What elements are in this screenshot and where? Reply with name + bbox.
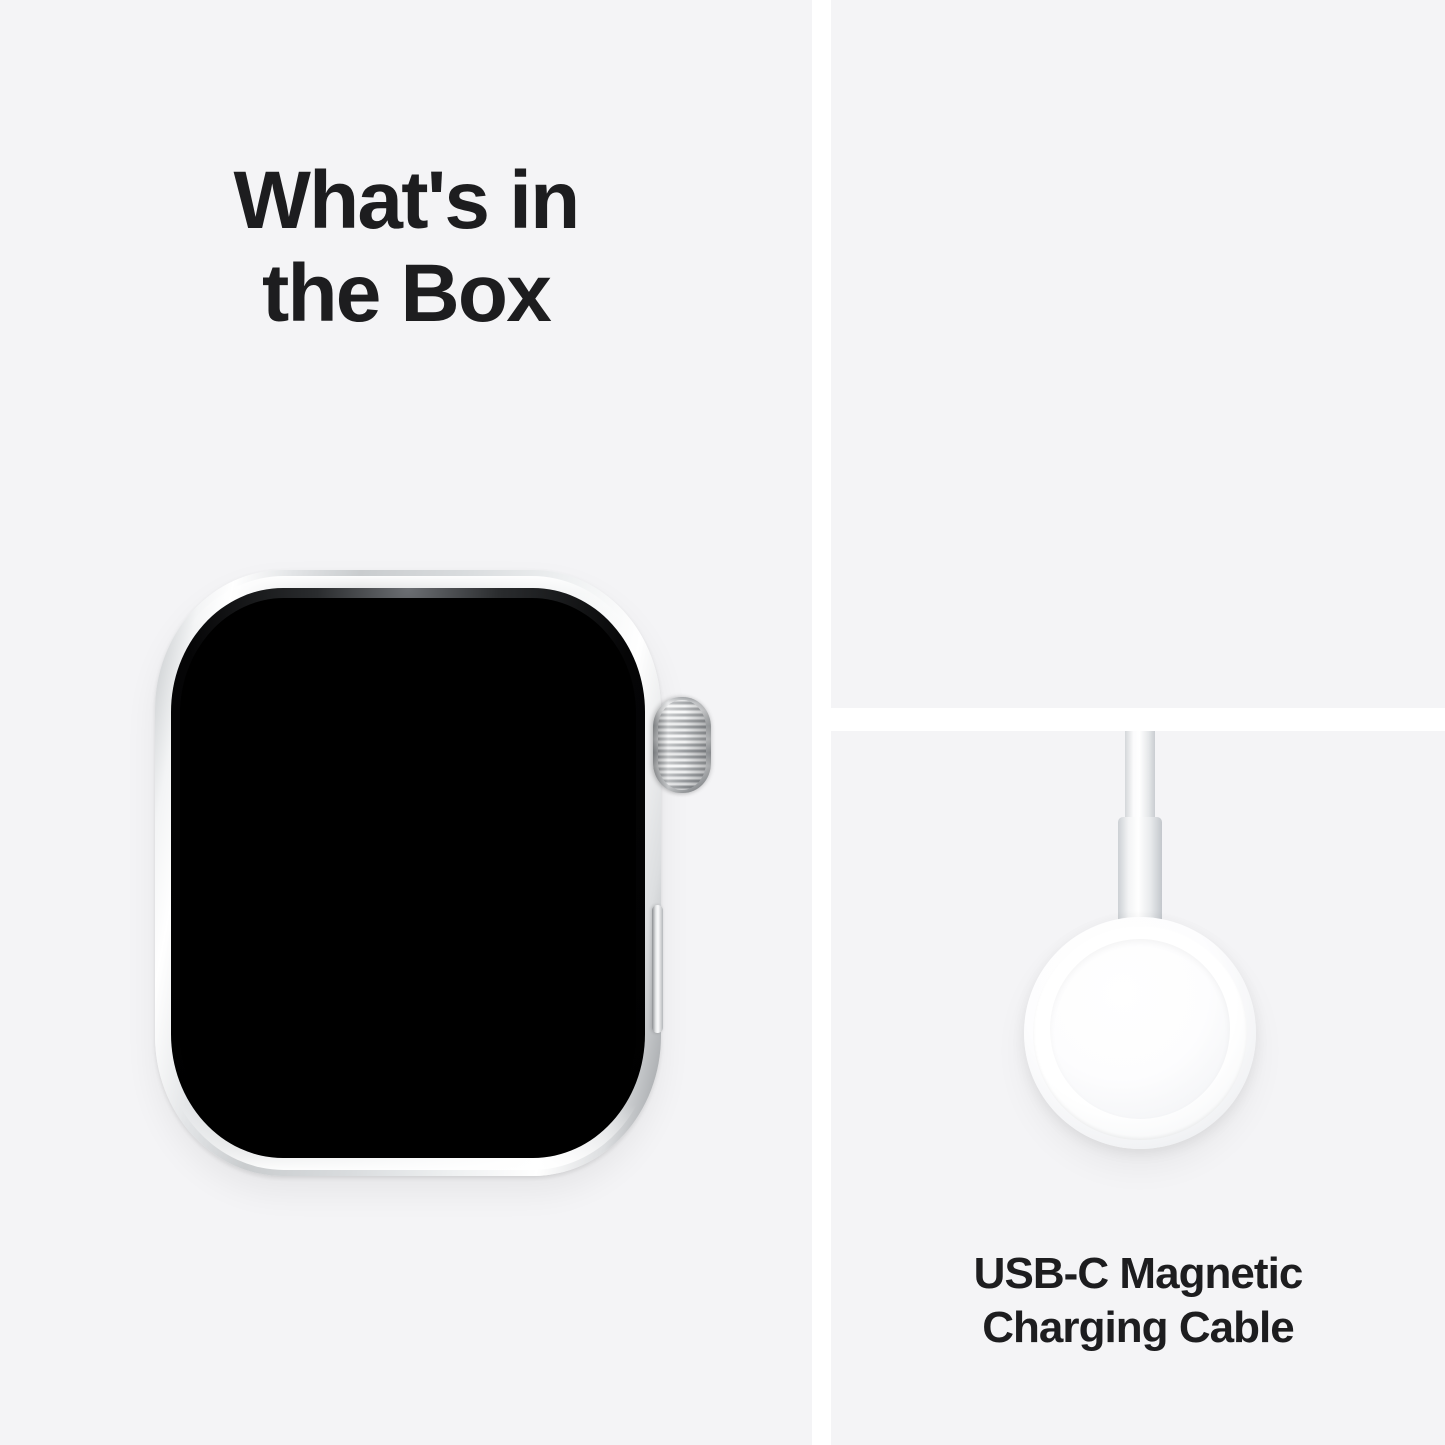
- digital-crown-shading: [653, 697, 711, 793]
- panel-sport-band: Sport Band: [831, 0, 1445, 708]
- panel-whats-in-the-box: What's in the Box: [0, 0, 812, 1445]
- cable-strain-relief: [1118, 817, 1162, 927]
- apple-watch-image: [140, 560, 740, 1200]
- whats-in-the-box-graphic: What's in the Box: [0, 0, 1445, 1445]
- digital-crown-icon: [653, 697, 711, 793]
- side-button: [652, 905, 663, 1033]
- cable-cord: [1125, 731, 1155, 821]
- watch-display-screen: [180, 598, 636, 1148]
- charging-cable-label: USB-C Magnetic Charging Cable: [831, 1247, 1445, 1354]
- page-title: What's in the Box: [96, 155, 716, 340]
- charging-puck-face: [1050, 939, 1230, 1119]
